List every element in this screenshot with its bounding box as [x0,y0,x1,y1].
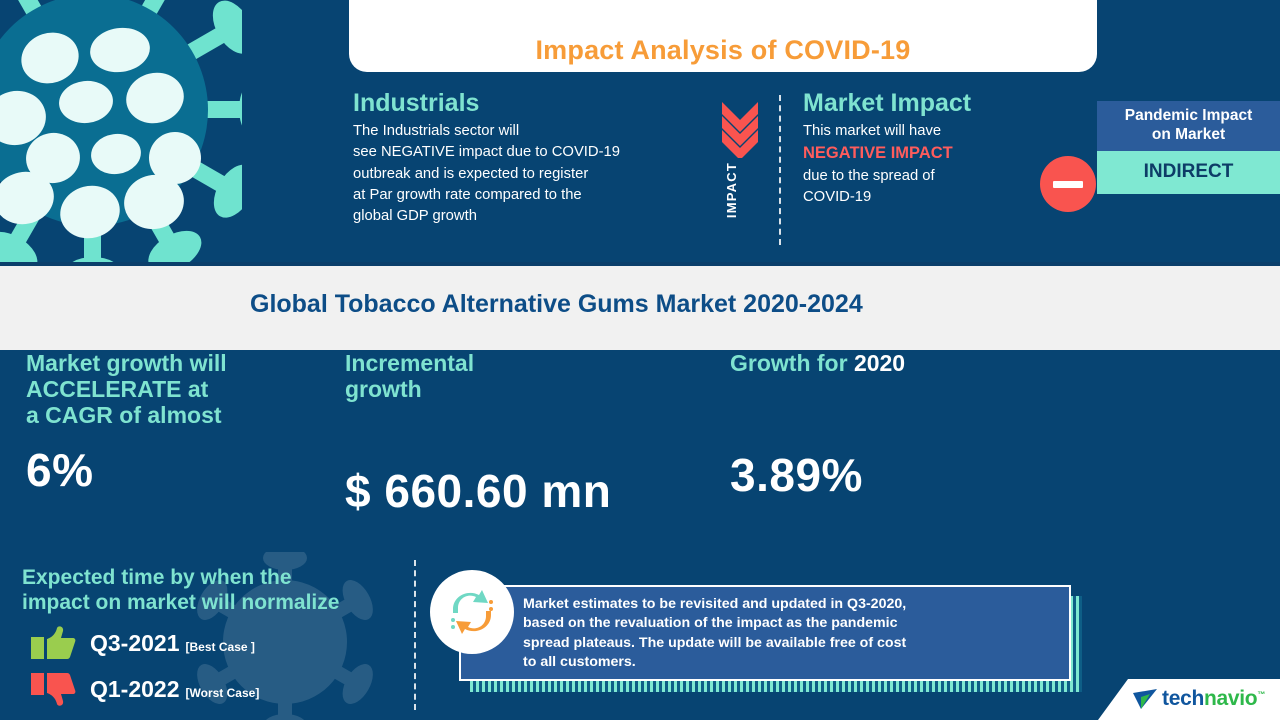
technavio-mark-icon [1132,688,1158,710]
metric-cagr: Market growth will ACCELERATE at a CAGR … [26,350,316,550]
impact-indicator-negative: IMPACT [718,100,762,245]
incremental-value: $ 660.60 mn [345,464,665,518]
incremental-label: Incremental growth [345,350,665,402]
logo-part-1: tech [1162,687,1204,710]
market-impact-line-2: due to the spread of [803,166,1053,187]
industrials-body: The Industrials sector will see NEGATIVE… [353,121,713,227]
industrials-block: Industrials The Industrials sector will … [353,90,713,227]
growth-2020-label: Growth for 2020 [730,350,1010,376]
industrials-line-5: global GDP growth [353,206,713,227]
market-title-band: Global Tobacco Alternative Gums Market 2… [0,262,1280,350]
best-case-row: Q3-2021 [Best Case ] [30,626,255,660]
callout-line-4: to all customers. [523,654,636,670]
pandemic-impact-panel: Pandemic Impact on Market INDIRECT [1097,101,1280,194]
technavio-wordmark: technavio™ [1162,687,1265,711]
industrials-heading: Industrials [353,90,713,117]
market-title: Global Tobacco Alternative Gums Market 2… [250,290,863,319]
virus-illustration-icon [0,0,242,262]
pandemic-heading-line-2: on Market [1101,126,1276,145]
market-impact-heading: Market Impact [803,90,1053,117]
market-impact-line-1: This market will have [803,121,1053,142]
market-impact-body: This market will have NEGATIVE IMPACT du… [803,121,1053,209]
pandemic-impact-value: INDIRECT [1097,151,1280,194]
refresh-cycle-icon [444,584,500,640]
bottom-divider [414,560,416,710]
worst-case-quarter: Q1-2022 [90,676,180,703]
industrials-line-2: see NEGATIVE impact due to COVID-19 [353,142,713,163]
market-impact-emphasis: NEGATIVE IMPACT [803,142,1053,166]
band-top-rule [0,262,1280,266]
callout-line-3: spread plateaus. The update will be avai… [523,635,906,651]
cagr-label-line-1: Market growth will [26,350,231,376]
hero-section: Impact Analysis of COVID-19 Industrials … [0,0,1280,262]
callout-box: Market estimates to be revisited and upd… [459,585,1071,681]
incremental-label-line-2: growth [345,376,665,402]
metric-incremental-growth: Incremental growth $ 660.60 mn [345,350,665,550]
market-impact-block: Market Impact This market will have NEGA… [803,90,1053,209]
callout-line-2: based on the revaluation of the impact a… [523,615,897,631]
metric-growth-2020: Growth for 2020 3.89% [730,350,1010,550]
technavio-logo[interactable]: technavio™ [1098,679,1280,720]
cagr-label-line-2: ACCELERATE at [26,376,231,402]
minus-circle-icon [1040,156,1096,212]
logo-trademark: ™ [1257,690,1265,699]
hero-divider [779,95,781,245]
infographic-root: Impact Analysis of COVID-19 Industrials … [0,0,1280,720]
normalize-heading-line-2: impact on market will normalize [22,591,422,616]
refresh-badge [430,570,514,654]
chevron-down-icon [718,100,762,158]
industrials-line-3: outbreak and is expected to register [353,164,713,185]
pandemic-heading-line-1: Pandemic Impact [1101,107,1276,126]
growth-2020-label-year: 2020 [854,350,905,376]
logo-part-2: navio [1204,687,1257,710]
worst-case-label: [Worst Case] [186,686,260,700]
incremental-label-line-1: Incremental [345,350,665,376]
cagr-label-line-3: a CAGR of almost [26,402,231,428]
best-case-quarter: Q3-2021 [90,630,180,657]
growth-2020-value: 3.89% [730,448,1010,502]
growth-2020-label-green: Growth for [730,350,854,376]
pandemic-impact-heading: Pandemic Impact on Market [1097,101,1280,151]
title-card: Impact Analysis of COVID-19 [349,0,1097,72]
market-impact-line-3: COVID-19 [803,187,1053,208]
worst-case-row: Q1-2022 [Worst Case] [30,672,259,706]
normalize-heading: Expected time by when the impact on mark… [22,566,422,616]
impact-label-left: IMPACT [724,162,739,218]
industrials-line-4: at Par growth rate compared to the [353,185,713,206]
thumbs-up-icon [30,626,76,660]
normalize-heading-line-1: Expected time by when the [22,566,422,591]
thumbs-down-icon [30,672,76,706]
logo-corner-accent [1098,679,1128,720]
cagr-value: 6% [26,443,316,497]
metrics-row: Market growth will ACCELERATE at a CAGR … [0,350,1280,550]
cagr-label: Market growth will ACCELERATE at a CAGR … [26,350,231,429]
best-case-label: [Best Case ] [186,640,255,654]
industrials-line-1: The Industrials sector will [353,121,713,142]
callout-text: Market estimates to be revisited and upd… [461,587,1069,672]
page-title: Impact Analysis of COVID-19 [535,35,910,66]
callout-line-1: Market estimates to be revisited and upd… [523,596,906,612]
